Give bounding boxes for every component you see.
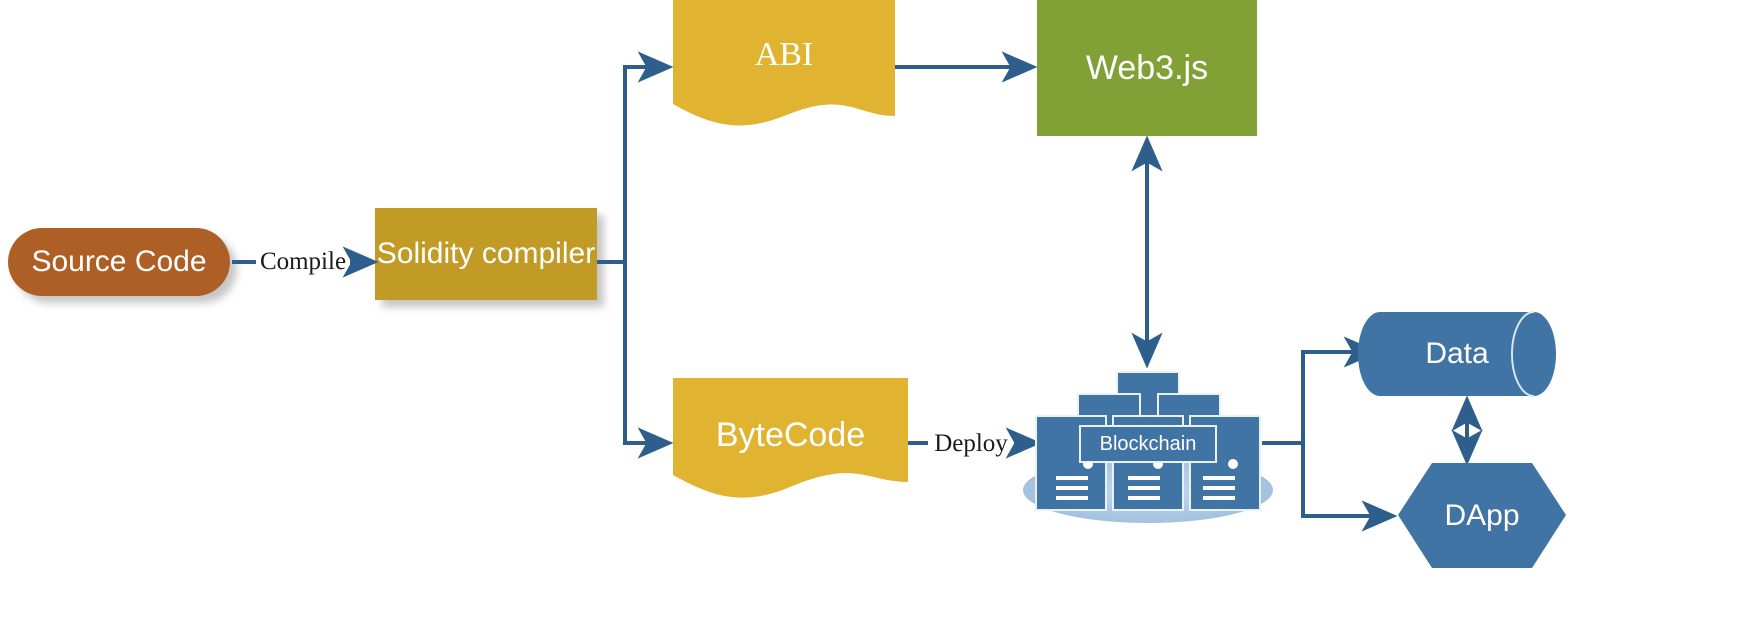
source-code-shape — [8, 228, 230, 296]
server-vents-center — [1128, 476, 1160, 500]
diagram-canvas: Source Code Solidity compiler ABI ByteCo… — [0, 0, 1754, 634]
server-led-right — [1228, 459, 1238, 469]
edge-label-compile: Compile — [253, 244, 353, 280]
node-dapp[interactable] — [1398, 463, 1566, 568]
node-data[interactable] — [1358, 312, 1556, 396]
node-blockchain[interactable] — [1023, 372, 1273, 523]
data-cylinder-body — [1358, 312, 1556, 396]
edge-compiler-branch — [597, 67, 668, 443]
diagram-svg-layer — [0, 0, 1754, 634]
bytecode-shape — [673, 378, 908, 498]
abi-shape — [673, 0, 895, 125]
web3js-shape — [1037, 0, 1257, 136]
node-web3js[interactable] — [1037, 0, 1257, 136]
node-abi[interactable] — [673, 0, 895, 125]
node-bytecode[interactable] — [673, 378, 908, 498]
edge-label-deploy: Deploy — [925, 426, 1017, 462]
server-vents-right — [1203, 476, 1235, 500]
server-vents-left — [1056, 476, 1088, 500]
blockchain-label-plate — [1080, 426, 1216, 462]
node-solidity-compiler[interactable] — [375, 208, 597, 300]
solidity-compiler-shape — [375, 208, 597, 300]
node-source-code[interactable] — [8, 228, 230, 296]
dapp-shape — [1398, 463, 1566, 568]
